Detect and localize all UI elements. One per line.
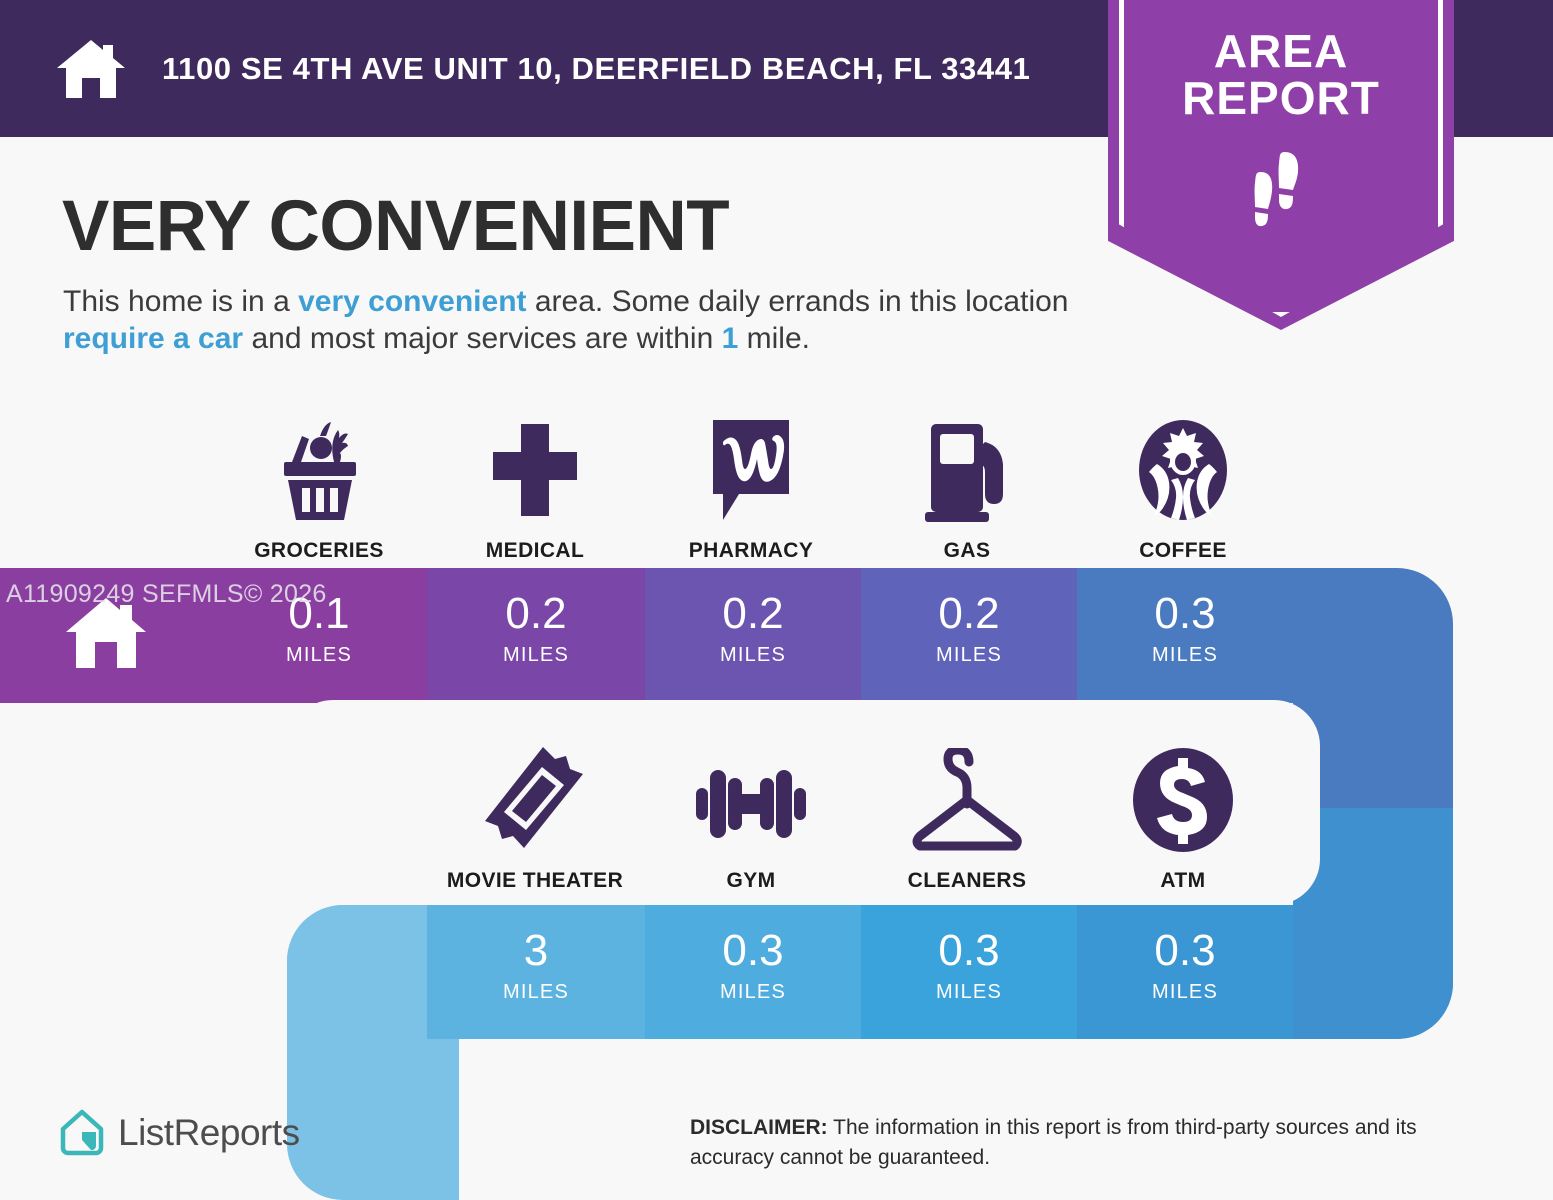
- amenity-label: ATM: [1160, 869, 1205, 893]
- distance-unit: MILES: [861, 644, 1077, 667]
- header-bar: 1100 SE 4TH AVE UNIT 10, DEERFIELD BEACH…: [0, 0, 1075, 137]
- amenity-cleaners: CLEANERS: [859, 748, 1075, 893]
- medical-cross-icon: [485, 418, 585, 522]
- distance-segment: 0.2MILES: [861, 568, 1077, 703]
- amenity-medical: MEDICAL: [427, 418, 643, 563]
- summary-part-1: This home is in a: [63, 285, 298, 318]
- amenity-label: COFFEE: [1139, 539, 1227, 563]
- distance-unit: MILES: [645, 644, 861, 667]
- distance-unit: MILES: [427, 981, 645, 1004]
- distance-unit: MILES: [645, 981, 861, 1004]
- area-report-page: 1100 SE 4TH AVE UNIT 10, DEERFIELD BEACH…: [0, 0, 1553, 1200]
- distance-value: 0.3: [861, 929, 1077, 973]
- grocery-basket-icon: [268, 418, 370, 522]
- amenity-groceries: GROCERIES: [211, 418, 427, 563]
- gas-pump-icon: [917, 418, 1017, 522]
- summary-part-4: mile.: [738, 322, 810, 355]
- amenity-label: PHARMACY: [689, 539, 814, 563]
- distance-unit: MILES: [1077, 981, 1293, 1004]
- listreports-house-icon: [58, 1108, 106, 1158]
- distance-unit: MILES: [211, 644, 427, 667]
- summary-part-2: area. Some daily errands in this locatio…: [527, 285, 1069, 318]
- amenity-label: GAS: [944, 539, 991, 563]
- distance-value: 0.3: [645, 929, 861, 973]
- distance-segment: 0.3MILES: [1077, 905, 1293, 1039]
- distance-value: 3: [427, 929, 645, 973]
- distance-segment: 0.2MILES: [645, 568, 861, 703]
- amenity-gas: GAS: [859, 418, 1075, 563]
- summary-highlight-3: 1: [722, 322, 739, 355]
- disclaimer-label: DISCLAIMER:: [690, 1116, 828, 1139]
- property-address: 1100 SE 4TH AVE UNIT 10, DEERFIELD BEACH…: [162, 51, 1030, 87]
- footprints-icon: [1239, 150, 1323, 228]
- mls-watermark: A11909249 SEFMLS© 2026: [6, 580, 327, 609]
- distance-value: 0.2: [861, 592, 1077, 636]
- home-icon: [55, 38, 127, 100]
- distance-segment: 0.3MILES: [861, 905, 1077, 1039]
- area-report-badge: AREA REPORT: [1108, 0, 1454, 330]
- amenity-atm: ATM: [1075, 748, 1291, 893]
- distance-segment: 3MILES: [427, 905, 645, 1039]
- disclaimer: DISCLAIMER: The information in this repo…: [690, 1113, 1490, 1173]
- amenity-label: MOVIE THEATER: [447, 869, 623, 893]
- distance-value: 0.2: [645, 592, 861, 636]
- distance-segment: 0.3MILES: [645, 905, 861, 1039]
- distance-segment: 0.3MILES: [1077, 568, 1293, 703]
- badge-title: AREA REPORT: [1108, 28, 1454, 122]
- walgreens-w-icon: [705, 418, 797, 522]
- dumbbell-icon: [692, 748, 810, 852]
- summary-text: This home is in a very convenient area. …: [63, 283, 1103, 357]
- amenity-gym: GYM: [643, 748, 859, 893]
- distance-unit: MILES: [861, 981, 1077, 1004]
- page-title: VERY CONVENIENT: [62, 186, 729, 267]
- movie-ticket-icon: [480, 748, 590, 852]
- summary-part-3: and most major services are within: [243, 322, 722, 355]
- starbucks-icon: [1133, 418, 1233, 522]
- amenity-row-2: MOVIE THEATER GYM CLEANERS ATM: [427, 748, 1291, 893]
- dollar-circle-icon: [1131, 748, 1235, 852]
- amenity-row-1: GROCERIES MEDICAL PHARMACY GAS COFFEE: [211, 418, 1291, 563]
- bar-row2-lead: [287, 905, 427, 1039]
- amenity-label: GYM: [726, 869, 775, 893]
- summary-highlight-1: very convenient: [298, 285, 526, 318]
- amenity-label: MEDICAL: [486, 539, 584, 563]
- amenity-pharmacy: PHARMACY: [643, 418, 859, 563]
- distance-segment: 0.2MILES: [427, 568, 645, 703]
- badge-title-line2: REPORT: [1108, 75, 1454, 122]
- listreports-logo: ListReports: [58, 1108, 300, 1158]
- summary-highlight-2: require a car: [63, 322, 243, 355]
- amenity-label: CLEANERS: [908, 869, 1027, 893]
- distance-value: 0.2: [427, 592, 645, 636]
- distance-value: 0.3: [1077, 929, 1293, 973]
- distance-unit: MILES: [427, 644, 645, 667]
- distance-unit: MILES: [1077, 644, 1293, 667]
- amenity-coffee: COFFEE: [1075, 418, 1291, 563]
- badge-title-line1: AREA: [1108, 28, 1454, 75]
- amenity-label: GROCERIES: [254, 539, 384, 563]
- hanger-icon: [908, 748, 1026, 852]
- distance-value: 0.3: [1077, 592, 1293, 636]
- listreports-wordmark: ListReports: [118, 1112, 300, 1154]
- amenity-movie-theater: MOVIE THEATER: [427, 748, 643, 893]
